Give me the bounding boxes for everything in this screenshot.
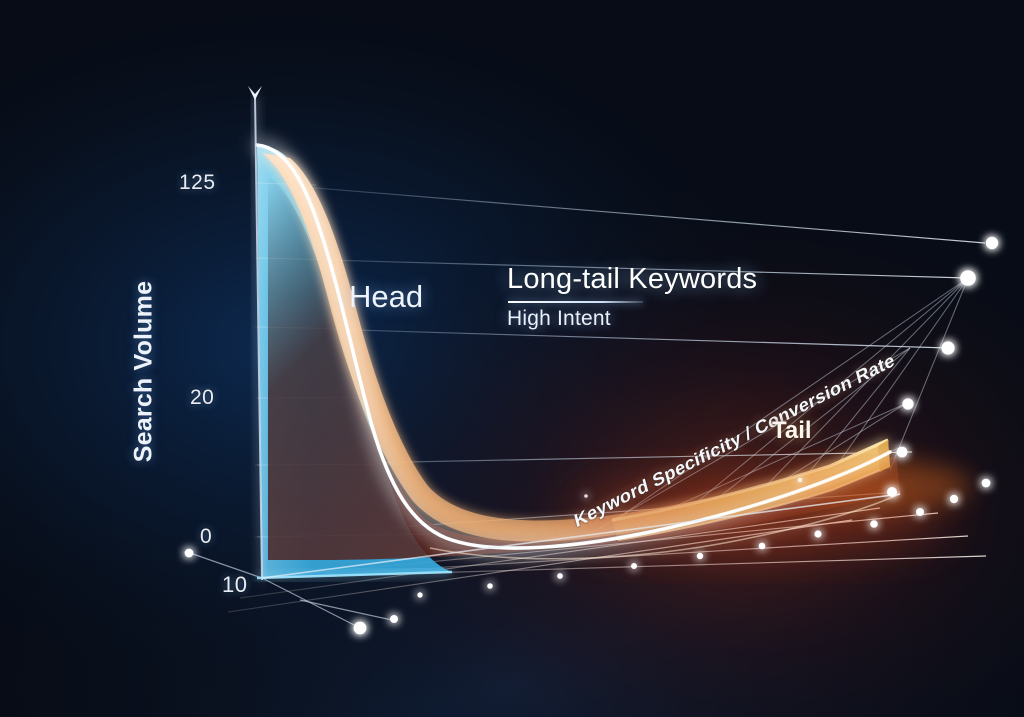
callout-block: Long-tail Keywords High Intent xyxy=(507,264,757,331)
callout-divider xyxy=(508,301,643,303)
y-axis-title: Search Volume xyxy=(130,222,159,522)
callout-title: Long-tail Keywords xyxy=(507,264,757,294)
chart-canvas: 125 20 0 10 Search Volume Keyword Specif… xyxy=(0,0,1024,717)
tail-region-label: Tail xyxy=(772,417,812,445)
x-origin-label-10: 10 xyxy=(222,572,247,598)
head-region-label: Head xyxy=(349,279,423,315)
y-tick-label-0: 0 xyxy=(200,525,212,549)
y-tick-label-20: 20 xyxy=(190,386,214,410)
callout-subtitle: High Intent xyxy=(507,307,757,331)
y-tick-label-125: 125 xyxy=(179,171,216,195)
